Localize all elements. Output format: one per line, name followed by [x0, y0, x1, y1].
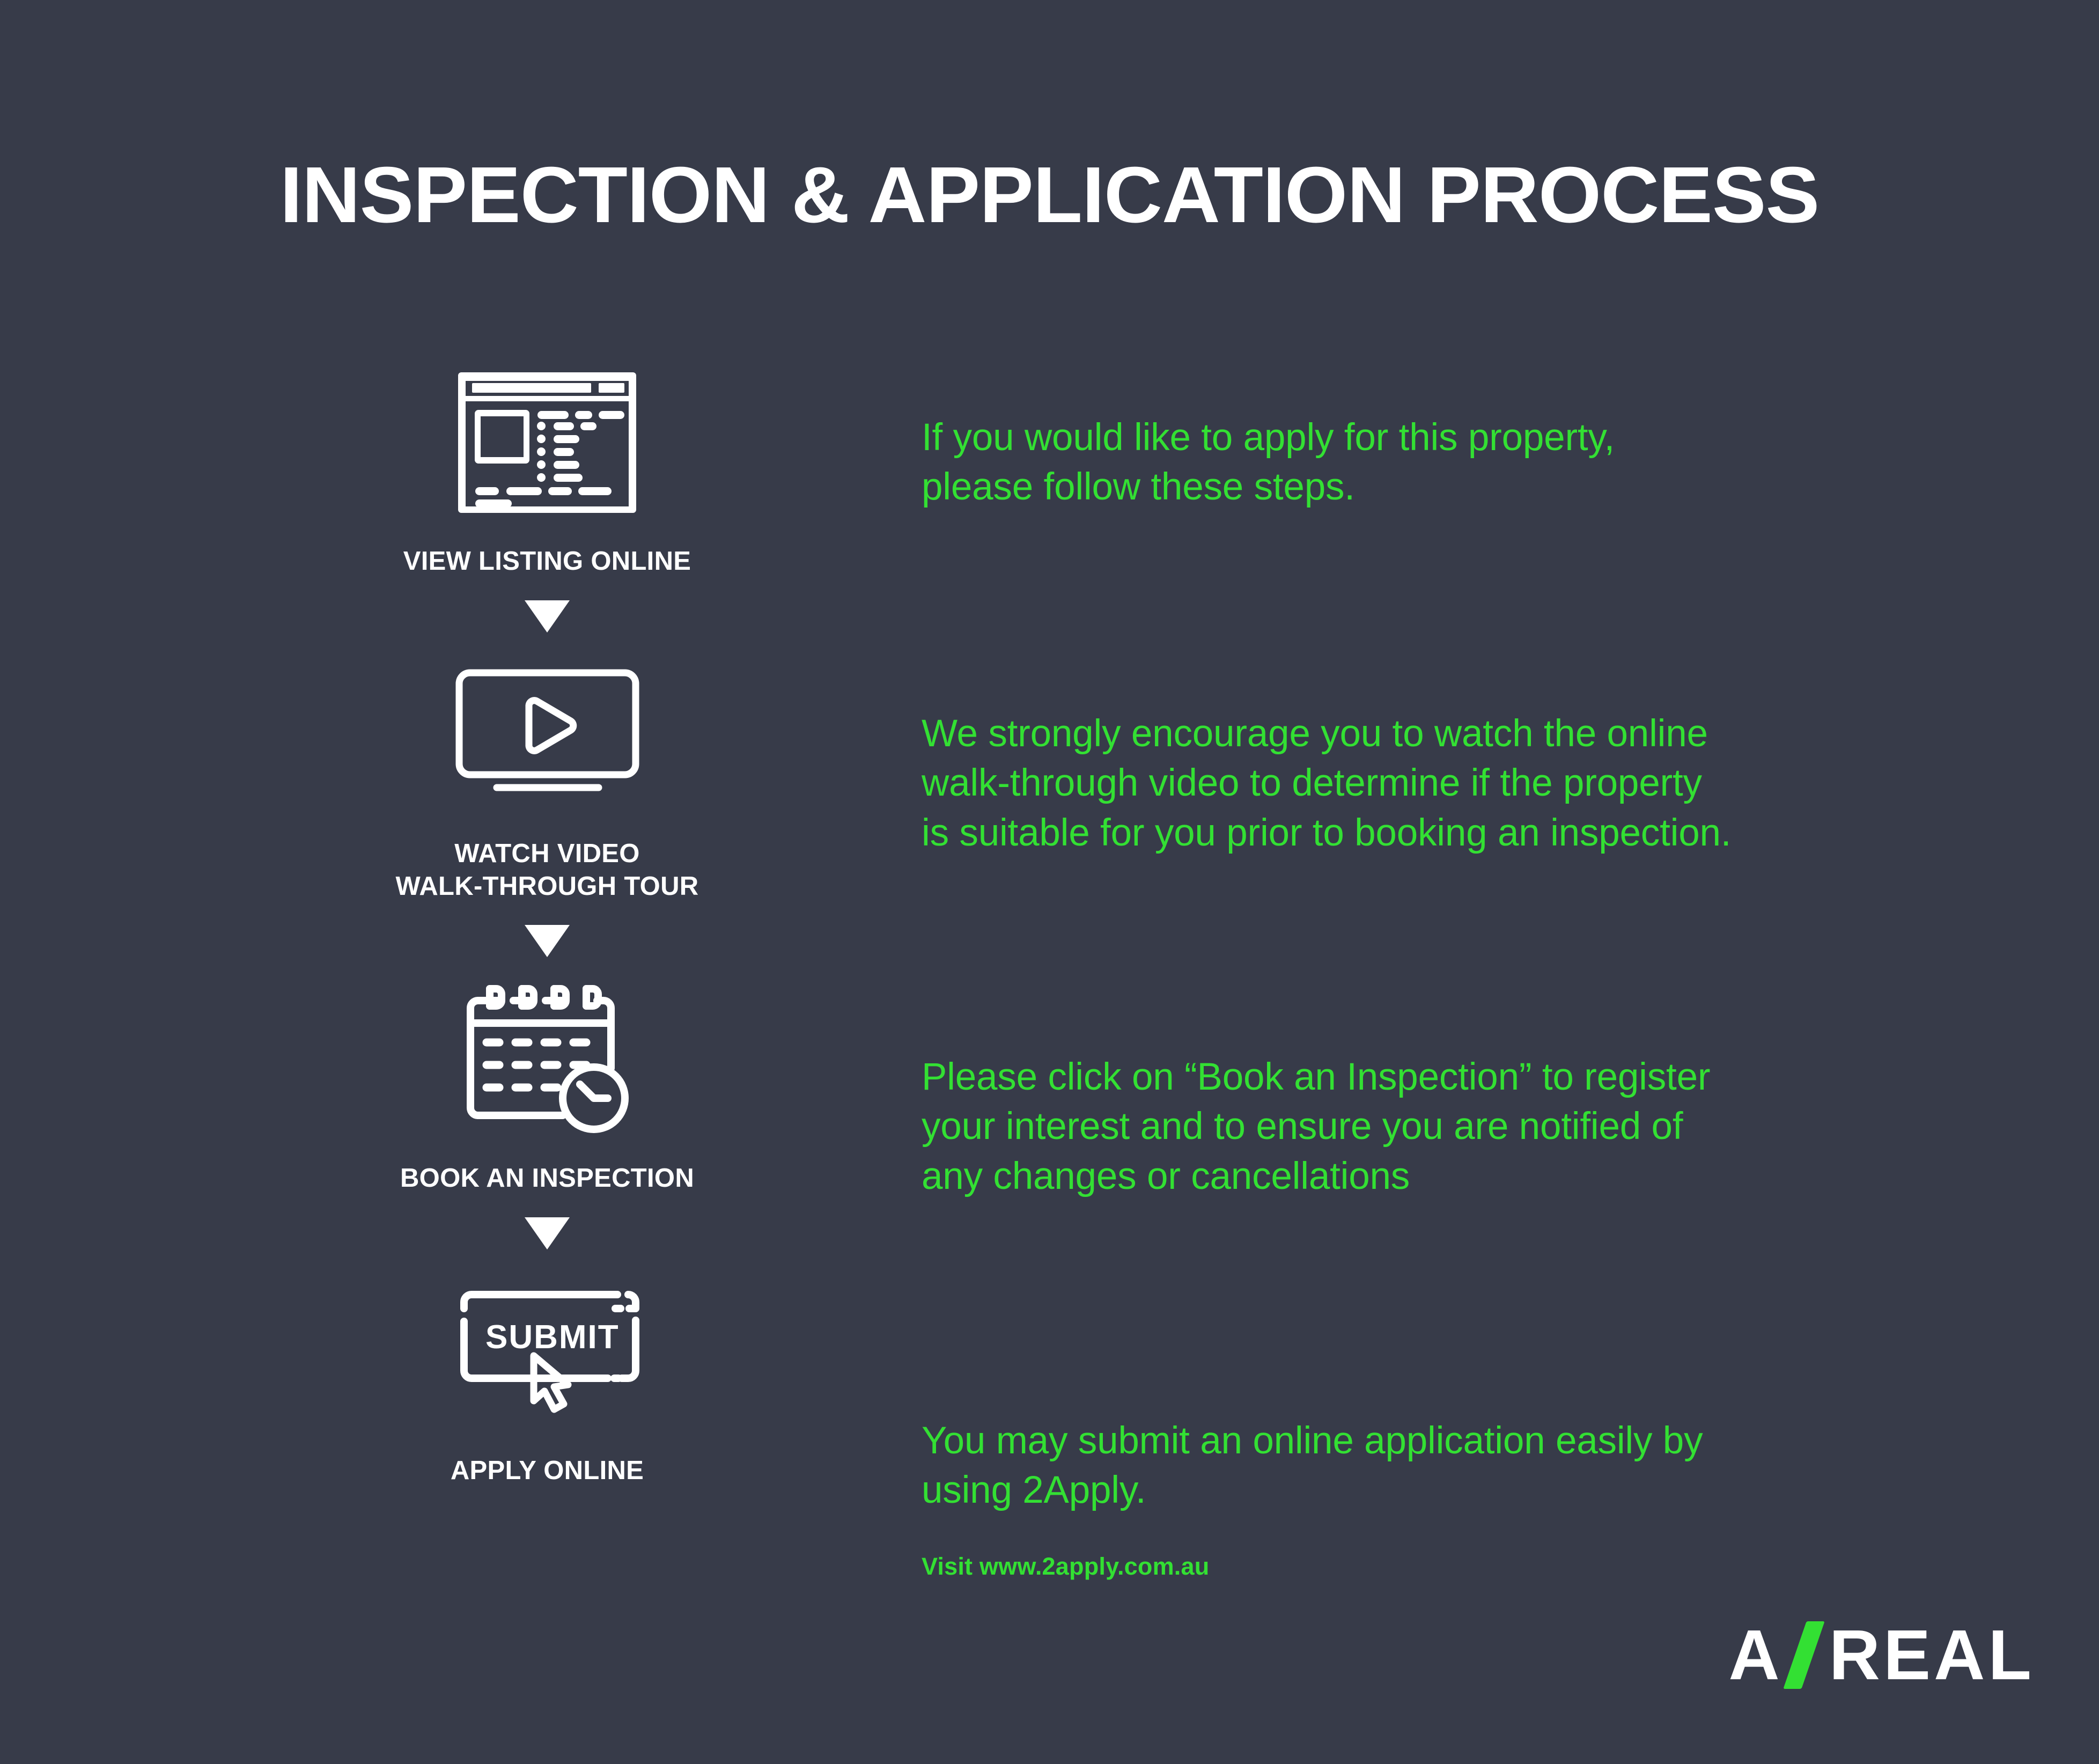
note-line: please follow these steps.: [922, 462, 1615, 512]
note-line: We strongly encourage you to watch the o…: [922, 709, 1731, 759]
chevron-down-icon: [525, 1217, 570, 1249]
logo-slash-icon: [1783, 1621, 1824, 1689]
flow-arrow-3: [343, 1195, 751, 1263]
chevron-down-icon: [525, 925, 570, 957]
step-book-an-inspection: BOOK AN INSPECTION: [343, 971, 751, 1195]
note-apply-online: You may submit an online application eas…: [922, 1416, 1703, 1516]
logo-letter-a: A: [1728, 1620, 1783, 1690]
step-label-book-an-inspection: BOOK AN INSPECTION: [343, 1162, 751, 1195]
note-line: walk-through video to determine if the p…: [922, 759, 1731, 808]
logo-word-real: REAL: [1829, 1620, 2035, 1690]
note-line: Please click on “Book an Inspection” to …: [922, 1053, 1710, 1102]
browser-listing-icon: [343, 354, 751, 531]
note-apply-intro: If you would like to apply for this prop…: [922, 413, 1615, 512]
note-line: using 2Apply.: [922, 1466, 1703, 1515]
submit-button-cursor-icon: SUBMIT: [343, 1263, 751, 1440]
areal-logo: A REAL: [1728, 1615, 2035, 1695]
step-label-line-1: WATCH VIDEO: [343, 837, 751, 870]
note-line: is suitable for you prior to booking an …: [922, 808, 1731, 858]
video-play-monitor-icon: [343, 646, 751, 824]
step-label-line-1: VIEW LISTING ONLINE: [343, 545, 751, 578]
note-book-inspection: Please click on “Book an Inspection” to …: [922, 1053, 1710, 1201]
calendar-clock-icon: [343, 971, 751, 1148]
submit-icon-text: SUBMIT: [485, 1319, 620, 1356]
step-label-apply-online: APPLY ONLINE: [343, 1454, 751, 1487]
step-apply-online: SUBMIT APPLY ONLINE: [343, 1263, 751, 1487]
note-line: any changes or cancellations: [922, 1152, 1710, 1201]
flow-arrow-1: [343, 578, 751, 646]
note-line: You may submit an online application eas…: [922, 1416, 1703, 1466]
step-view-listing-online: VIEW LISTING ONLINE: [343, 354, 751, 578]
note-line: your interest and to ensure you are noti…: [922, 1102, 1710, 1151]
step-label-watch-video: WATCH VIDEO WALK-THROUGH TOUR: [343, 837, 751, 903]
step-label-line-1: BOOK AN INSPECTION: [343, 1162, 751, 1195]
step-label-line-1: APPLY ONLINE: [343, 1454, 751, 1487]
step-watch-video: WATCH VIDEO WALK-THROUGH TOUR: [343, 646, 751, 903]
chevron-down-icon: [525, 600, 570, 633]
infographic-poster: INSPECTION & APPLICATION PROCESS: [0, 0, 2099, 1764]
note-watch-video: We strongly encourage you to watch the o…: [922, 709, 1731, 858]
visit-2apply-link[interactable]: Visit www.2apply.com.au: [922, 1553, 1209, 1581]
flow-arrow-2: [343, 902, 751, 971]
note-line: If you would like to apply for this prop…: [922, 413, 1615, 462]
page-title: INSPECTION & APPLICATION PROCESS: [0, 156, 2099, 235]
step-label-view-listing-online: VIEW LISTING ONLINE: [343, 545, 751, 578]
step-label-line-2: WALK-THROUGH TOUR: [343, 870, 751, 903]
process-flow-column: VIEW LISTING ONLINE: [343, 354, 751, 1487]
